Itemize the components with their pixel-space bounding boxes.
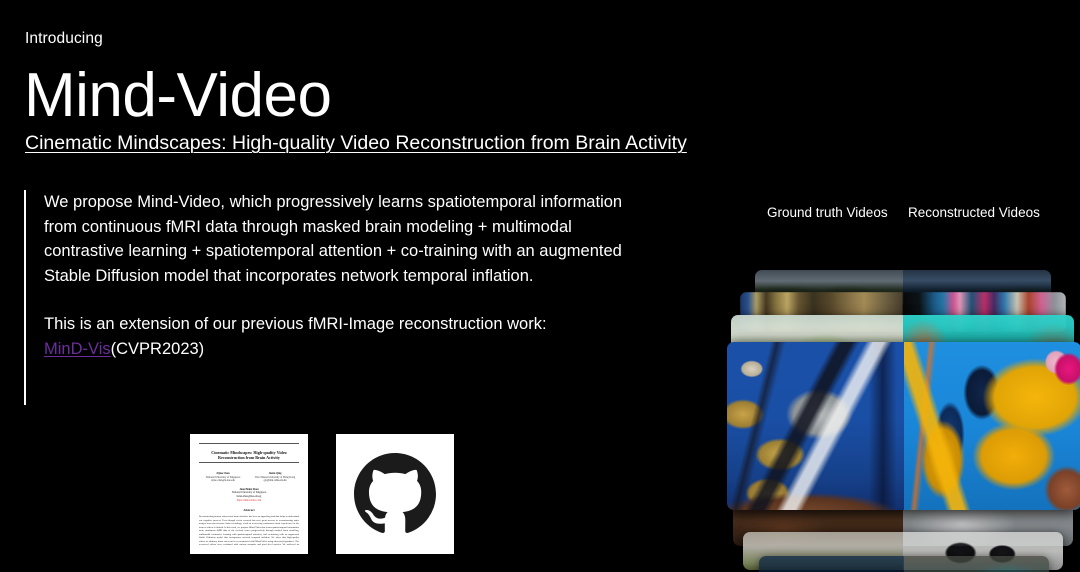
paper-author-1: Zijiao Chen National University of Singa… <box>199 472 247 483</box>
author-2-contact: qjx@link.cuhk.edu.hk <box>251 479 299 483</box>
paper-title-link[interactable]: Cinematic Mindscapes: High-quality Video… <box>25 130 687 156</box>
video-card-front-4[interactable] <box>759 556 1049 572</box>
author-1-contact: zijiao.chen@u.nus.edu <box>199 479 247 483</box>
paper-rule-mid <box>199 462 299 463</box>
video-frame-ground-truth <box>759 556 904 572</box>
github-icon <box>354 453 436 535</box>
description-blockquote: We propose Mind-Video, which progressive… <box>24 190 624 405</box>
video-frame-reconstructed <box>904 342 1080 510</box>
paper-rule-top <box>199 443 299 444</box>
paper-author-2: Jiaxin Qing The Chinese University of Ho… <box>251 472 299 483</box>
previous-work-prefix: This is an extension of our previous fMR… <box>44 315 547 333</box>
github-thumbnail[interactable] <box>336 434 454 554</box>
video-card-stack <box>725 270 1080 572</box>
description-paragraph-1: We propose Mind-Video, which progressive… <box>44 190 624 288</box>
page-title: Mind-Video <box>24 60 331 132</box>
video-card-main[interactable] <box>727 342 1080 510</box>
hero-eyebrow: Introducing <box>25 30 103 48</box>
video-frame-reconstructed <box>904 556 1049 572</box>
reconstructed-label: Reconstructed Videos <box>908 205 1040 220</box>
previous-work-suffix: (CVPR2023) <box>111 340 205 358</box>
paper-preview-body: Cinematic Mindscapes: High-quality Video… <box>190 434 308 554</box>
github-logo-wrap <box>336 434 454 554</box>
description-paragraph-2: This is an extension of our previous fMR… <box>44 312 624 361</box>
paper-author-3: Juan Helen Zhou National University of S… <box>199 488 299 502</box>
paper-thumbnail[interactable]: Cinematic Mindscapes: High-quality Video… <box>190 434 308 554</box>
ground-truth-label: Ground truth Videos <box>767 205 888 220</box>
video-frame-ground-truth <box>727 342 904 510</box>
paper-preview-url: https://mind-video.com <box>199 499 299 503</box>
paper-abstract-text: Reconstructing human vision from brain a… <box>199 515 299 547</box>
mind-vis-link[interactable]: MinD-Vis <box>44 340 111 358</box>
paper-author-row: Zijiao Chen National University of Singa… <box>199 472 299 483</box>
thumbnail-row: Cinematic Mindscapes: High-quality Video… <box>190 434 454 554</box>
paper-preview-title: Cinematic Mindscapes: High-quality Video… <box>201 450 297 460</box>
paper-abstract-heading: Abstract <box>243 508 254 512</box>
